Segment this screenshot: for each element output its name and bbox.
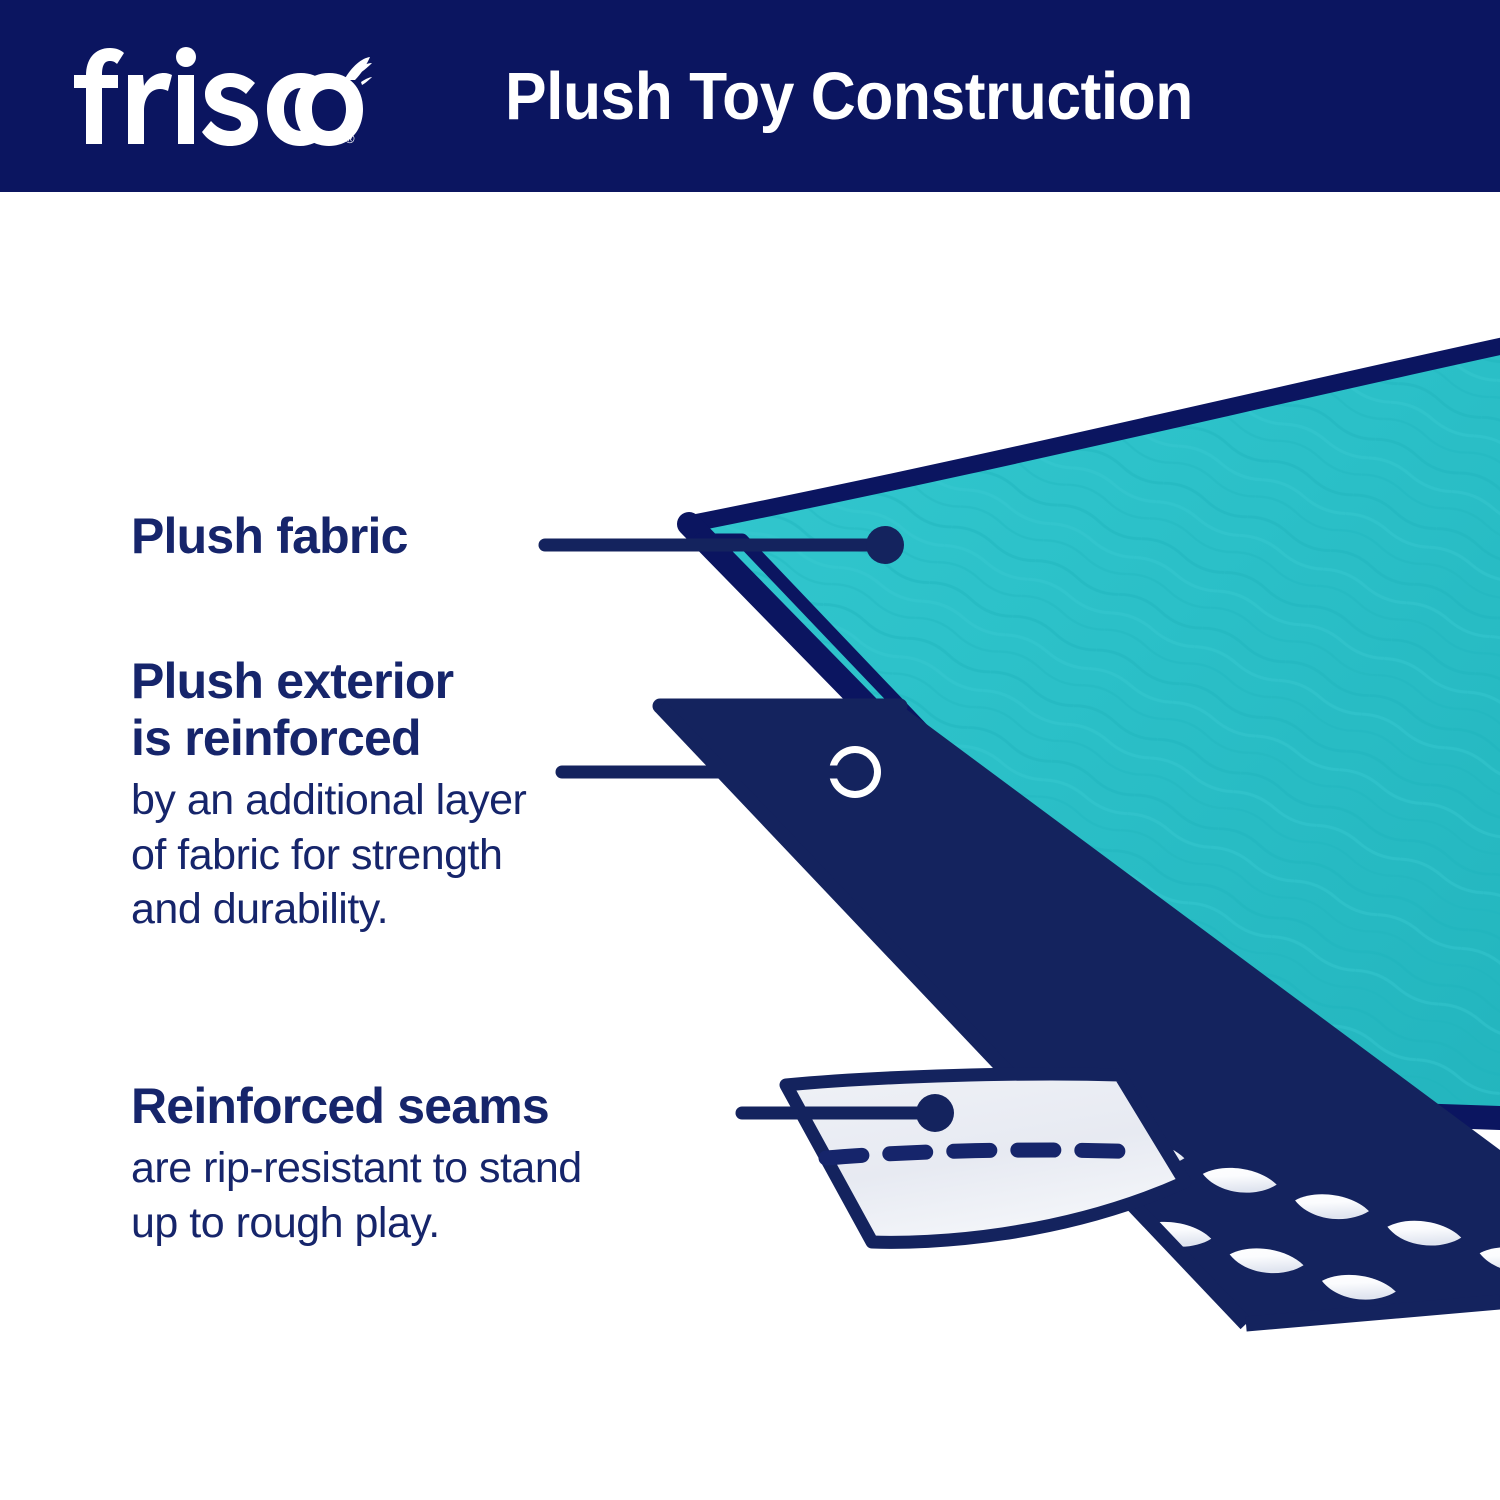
registered-trademark-symbol: ®: [345, 131, 355, 146]
callout-reinforced-seams: Reinforced seams are rip-resistant to st…: [131, 1078, 582, 1250]
callout-plush-exterior: Plush exterior is reinforced by an addit…: [131, 653, 526, 937]
callout-reinforced-seams-heading: Reinforced seams: [131, 1078, 582, 1135]
callout-plush-fabric: Plush fabric: [131, 508, 408, 565]
callout-reinforced-seams-body: are rip-resistant to stand up to rough p…: [131, 1141, 582, 1250]
seam-flap: [786, 1074, 1185, 1242]
callout-plush-exterior-heading: Plush exterior is reinforced: [131, 653, 526, 767]
leader-plush-fabric: [545, 526, 904, 564]
page-title: Plush Toy Construction: [505, 0, 1193, 192]
callout-plush-fabric-heading: Plush fabric: [131, 508, 408, 565]
leader-lines: [545, 526, 954, 1132]
leader-plush-exterior: [562, 746, 881, 798]
plush-fabric-panel: [640, 330, 1500, 1150]
stitch-line: [826, 1150, 1140, 1158]
header-bar: ® Plush Toy Construction: [0, 0, 1500, 192]
infographic-page: ® Plush Toy Construction: [0, 0, 1500, 1500]
frisco-logo: ®: [72, 44, 372, 148]
callout-plush-exterior-body: by an additional layer of fabric for str…: [131, 773, 526, 937]
leader-reinforced-seams: [742, 1094, 954, 1132]
